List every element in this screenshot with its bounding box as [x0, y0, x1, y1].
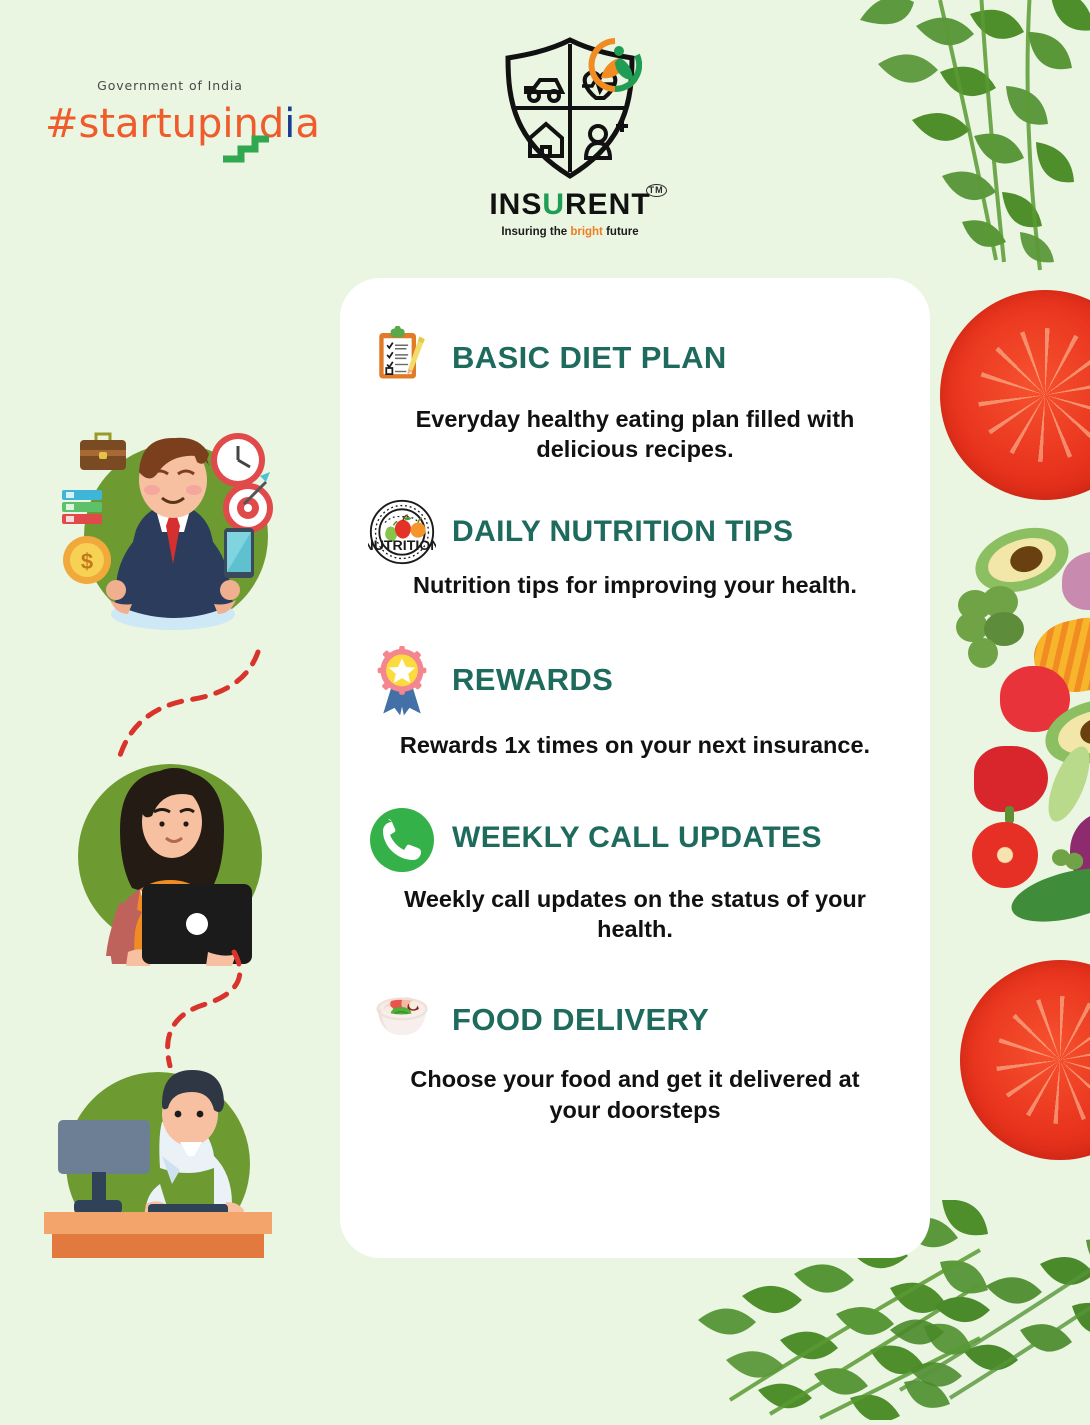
- feature-title: FOOD DELIVERY: [452, 1002, 709, 1038]
- startupindia-wordmark: #startupindia: [45, 101, 295, 147]
- tomato-half-right-upper: [940, 290, 1090, 500]
- nutrition-stamp-label: NUTRITION: [368, 538, 436, 554]
- feature-title: BASIC DIET PLAN: [452, 340, 727, 376]
- red-onion-icon: [1062, 552, 1090, 610]
- smartphone-icon: [224, 528, 254, 578]
- man-at-desk-illustration: [30, 1052, 290, 1277]
- svg-text:$: $: [81, 549, 93, 574]
- government-of-india-label: Government of India: [45, 78, 295, 93]
- tagline-part2: future: [603, 226, 639, 238]
- insurent-logo: INSURENT TM Insuring the bright future: [470, 34, 670, 238]
- avocado-half-icon: [967, 517, 1077, 604]
- feature-description: Weekly call updates on the status of you…: [366, 884, 904, 944]
- features-card: BASIC DIET PLAN Everyday healthy eating …: [340, 278, 930, 1258]
- avocado-half-icon-2: [1037, 689, 1090, 776]
- coin-icon: $: [63, 536, 111, 584]
- feature-header: NUTRITION DAILY NUTRITION TIPS: [366, 496, 904, 568]
- dashed-connector-2: [98, 948, 268, 1068]
- feature-row-food-delivery: FOOD DELIVERY Choose your food and get i…: [366, 984, 904, 1124]
- herb-sprig-icon: [1050, 847, 1090, 897]
- pea-pod-icon: [1040, 741, 1090, 826]
- tomato-slice-icon: [972, 822, 1038, 888]
- tagline-part1: Insuring the: [501, 226, 570, 238]
- wordmark-suffix: a: [295, 101, 320, 147]
- feature-header: FOOD DELIVERY: [366, 984, 904, 1056]
- feature-header: WEEKLY CALL UPDATES: [366, 802, 904, 874]
- startup-india-logo: Government of India #startupindia: [45, 78, 295, 147]
- tomato-half-right-lower: [960, 960, 1090, 1160]
- corn-icon: [1027, 612, 1090, 700]
- cilantro-bunch-top-right: [830, 0, 1090, 290]
- insurent-wordmark: INSURENT TM: [489, 188, 650, 222]
- phone-circle-background: [370, 808, 434, 872]
- feature-title: WEEKLY CALL UPDATES: [452, 821, 822, 855]
- feature-description: Everyday healthy eating plan filled with…: [366, 404, 904, 464]
- feature-header: REWARDS: [366, 644, 904, 716]
- feature-row-basic-diet-plan: BASIC DIET PLAN Everyday healthy eating …: [366, 322, 904, 464]
- home-icon: [530, 124, 562, 156]
- shield-emblem: [490, 34, 650, 184]
- nutrition-stamp-icon: NUTRITION: [366, 496, 438, 568]
- cilantro-sprigs-bottom-edge: [890, 1220, 1090, 1400]
- person-leaf-icon: [588, 38, 642, 92]
- feature-title: DAILY NUTRITION TIPS: [452, 515, 793, 549]
- red-bell-pepper-icon: [974, 746, 1048, 812]
- feature-row-rewards: REWARDS Rewards 1x times on your next in…: [366, 644, 904, 760]
- rosette-award-icon: [366, 644, 438, 716]
- feature-row-weekly-call-updates: WEEKLY CALL UPDATES Weekly call updates …: [366, 802, 904, 944]
- apple-icon: [1000, 666, 1070, 732]
- feature-row-daily-nutrition-tips: NUTRITION DAILY NUTRITION TIPS Nutrition…: [366, 496, 904, 600]
- meditating-businessman-illustration: $: [48, 418, 298, 668]
- feature-description: Nutrition tips for improving your health…: [366, 570, 904, 600]
- brand-name-part1: INS: [489, 188, 542, 221]
- feature-title: REWARDS: [452, 662, 613, 698]
- cucumber-icon: [1006, 858, 1090, 932]
- mixed-vegetables-right-column: [958, 530, 1090, 920]
- food-bowl-icon: [366, 984, 438, 1056]
- clock-icon: [211, 433, 265, 487]
- purple-onion-icon: [1070, 812, 1090, 890]
- trademark-symbol: TM: [646, 184, 667, 197]
- clipboard-checklist-icon: [366, 322, 438, 394]
- woman-with-laptop-illustration: [58, 742, 283, 967]
- phone-call-icon: [366, 802, 438, 874]
- feature-description: Rewards 1x times on your next insurance.: [366, 730, 904, 760]
- feature-description: Choose your food and get it delivered at…: [366, 1064, 904, 1124]
- tagline-highlight: bright: [570, 226, 603, 238]
- steps-graphic-icon: [223, 133, 269, 163]
- car-icon: [526, 80, 562, 101]
- broccoli-icon: [954, 586, 1032, 670]
- books-icon: [62, 490, 102, 524]
- briefcase-icon: [80, 434, 126, 470]
- user-plus-icon: [586, 120, 628, 158]
- brand-name-u: U: [542, 188, 565, 221]
- brand-tagline: Insuring the bright future: [470, 226, 670, 238]
- feature-header: BASIC DIET PLAN: [366, 322, 904, 394]
- brand-name-part2: RENT: [565, 188, 651, 221]
- wordmark-blue-i: i: [284, 101, 295, 147]
